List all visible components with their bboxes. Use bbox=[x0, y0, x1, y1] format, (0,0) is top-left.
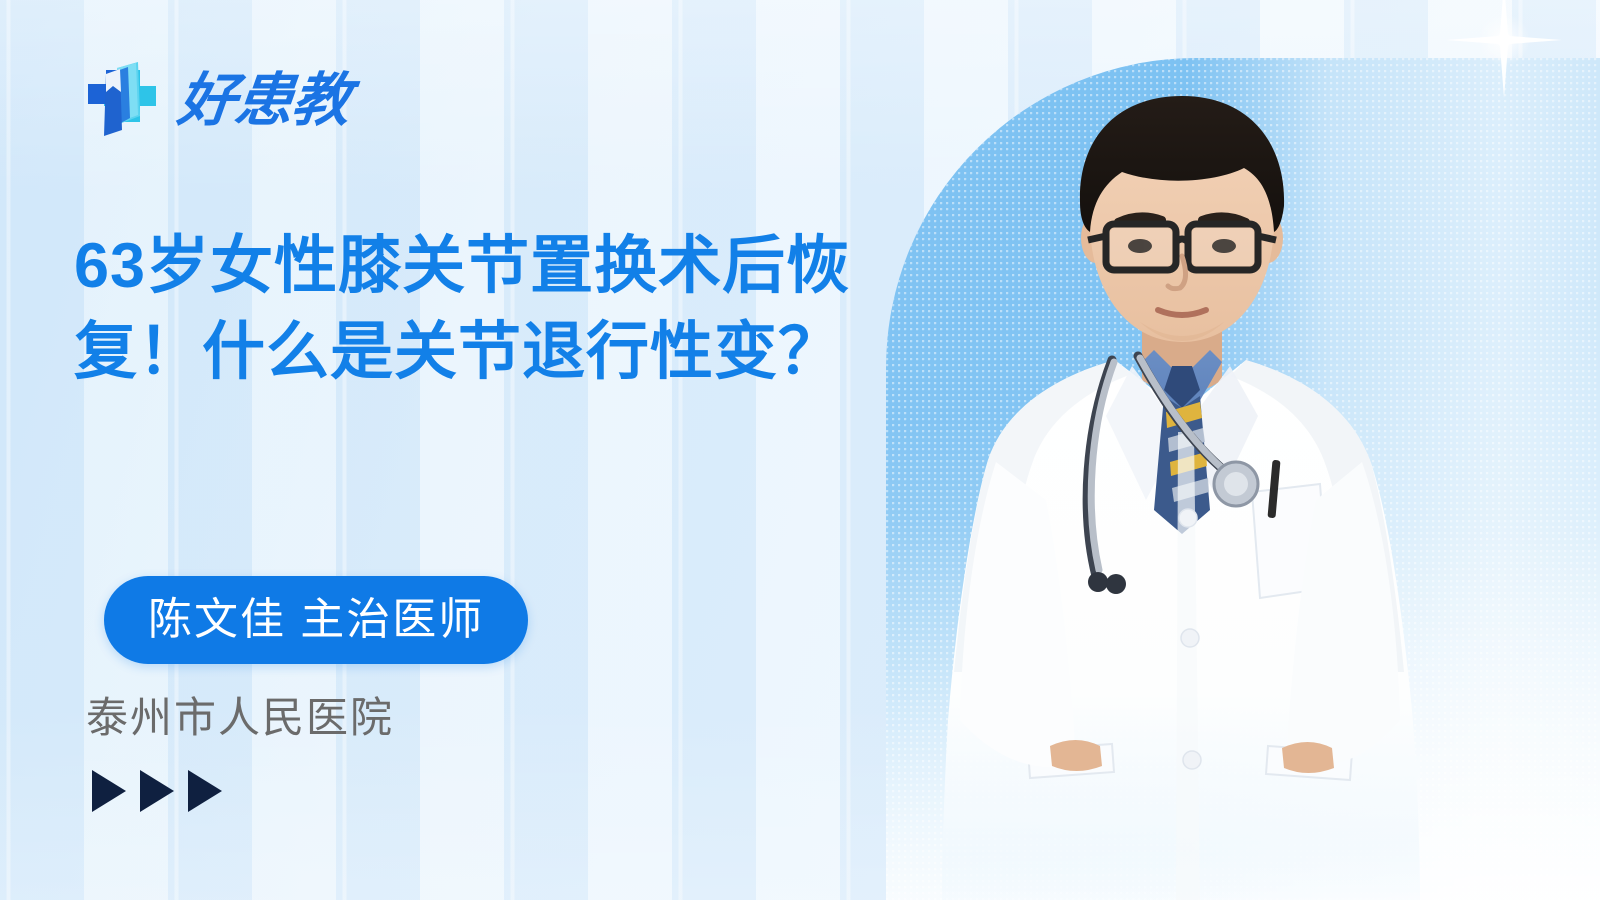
brand-name: 好患教 bbox=[175, 72, 352, 130]
medical-cross-book-icon bbox=[84, 58, 162, 144]
hospital-name: 泰州市人民医院 bbox=[86, 684, 394, 745]
arrow-indicators bbox=[92, 770, 222, 812]
brand-logo[interactable]: 好患教 bbox=[84, 58, 349, 144]
doctor-badge-label: 陈文佳 主治医师 bbox=[148, 598, 484, 642]
play-triangle-icon bbox=[188, 770, 222, 812]
doctor-portrait bbox=[900, 60, 1600, 900]
play-triangle-icon bbox=[140, 770, 174, 812]
doctor-badge[interactable]: 陈文佳 主治医师 bbox=[104, 576, 528, 664]
play-triangle-icon bbox=[92, 770, 126, 812]
page-title: 63岁女性膝关节置换术后恢复！什么是关节退行性变？ bbox=[74, 224, 954, 395]
poster-canvas: 好患教 63岁女性膝关节置换术后恢复！什么是关节退行性变？ 陈文佳 主治医师 泰… bbox=[0, 0, 1600, 900]
